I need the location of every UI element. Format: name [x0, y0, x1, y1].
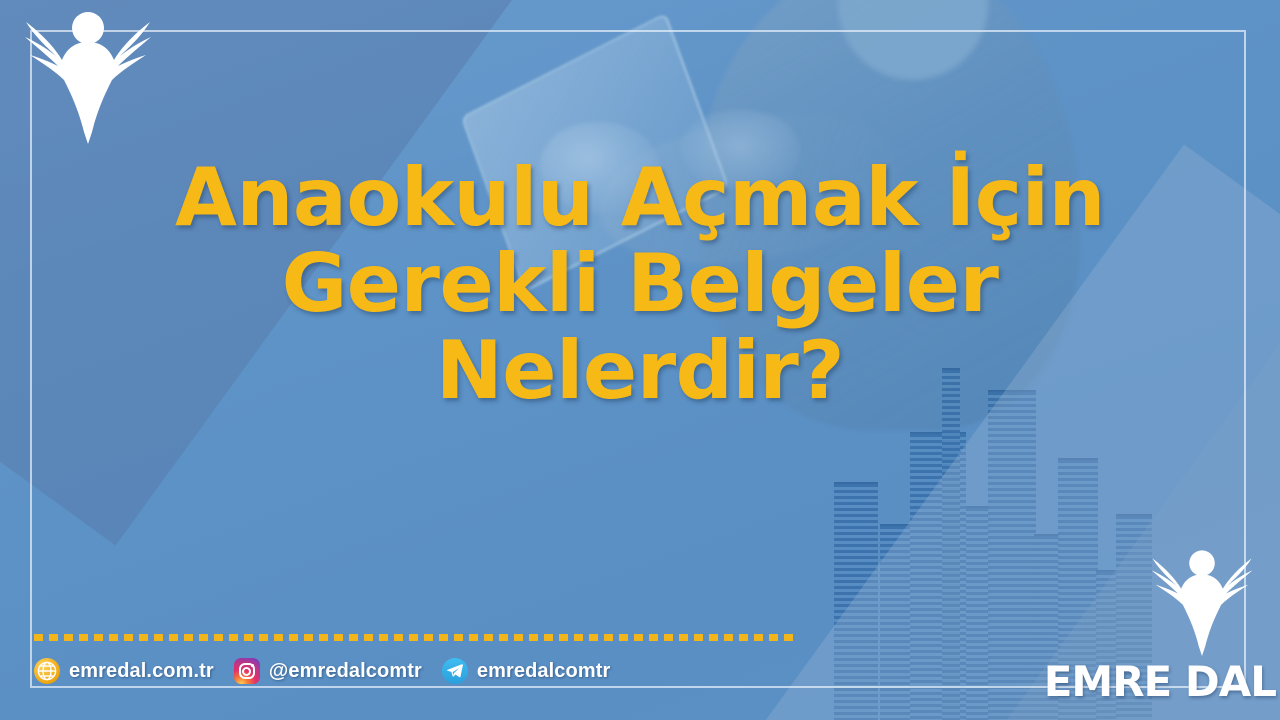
footer-social-bar: emredal.com.tr @emredalcomtr emredalcomt… [34, 652, 630, 690]
footer-dotted-divider [34, 634, 796, 641]
headline-line-1: Anaokulu Açmak İçin [0, 155, 1280, 241]
social-link-instagram[interactable]: @emredalcomtr [234, 658, 422, 684]
winged-figure-logo-icon-footer [1136, 544, 1268, 654]
social-link-telegram[interactable]: emredalcomtr [442, 658, 610, 684]
social-link-website[interactable]: emredal.com.tr [34, 658, 214, 684]
telegram-icon [442, 658, 468, 684]
instagram-icon [234, 658, 260, 684]
headline-line-3: Nelerdir? [0, 328, 1280, 414]
promo-banner: Anaokulu Açmak İçin Gerekli Belgeler Nel… [0, 0, 1280, 720]
brand-wordmark: EMRE DAL [1044, 657, 1276, 706]
social-handle-website: emredal.com.tr [69, 660, 214, 683]
social-handle-instagram: @emredalcomtr [269, 660, 422, 683]
winged-figure-logo-icon [22, 4, 154, 144]
globe-icon [34, 658, 60, 684]
social-handle-telegram: emredalcomtr [477, 660, 610, 683]
headline-line-2: Gerekli Belgeler [0, 241, 1280, 327]
page-title: Anaokulu Açmak İçin Gerekli Belgeler Nel… [0, 155, 1280, 414]
